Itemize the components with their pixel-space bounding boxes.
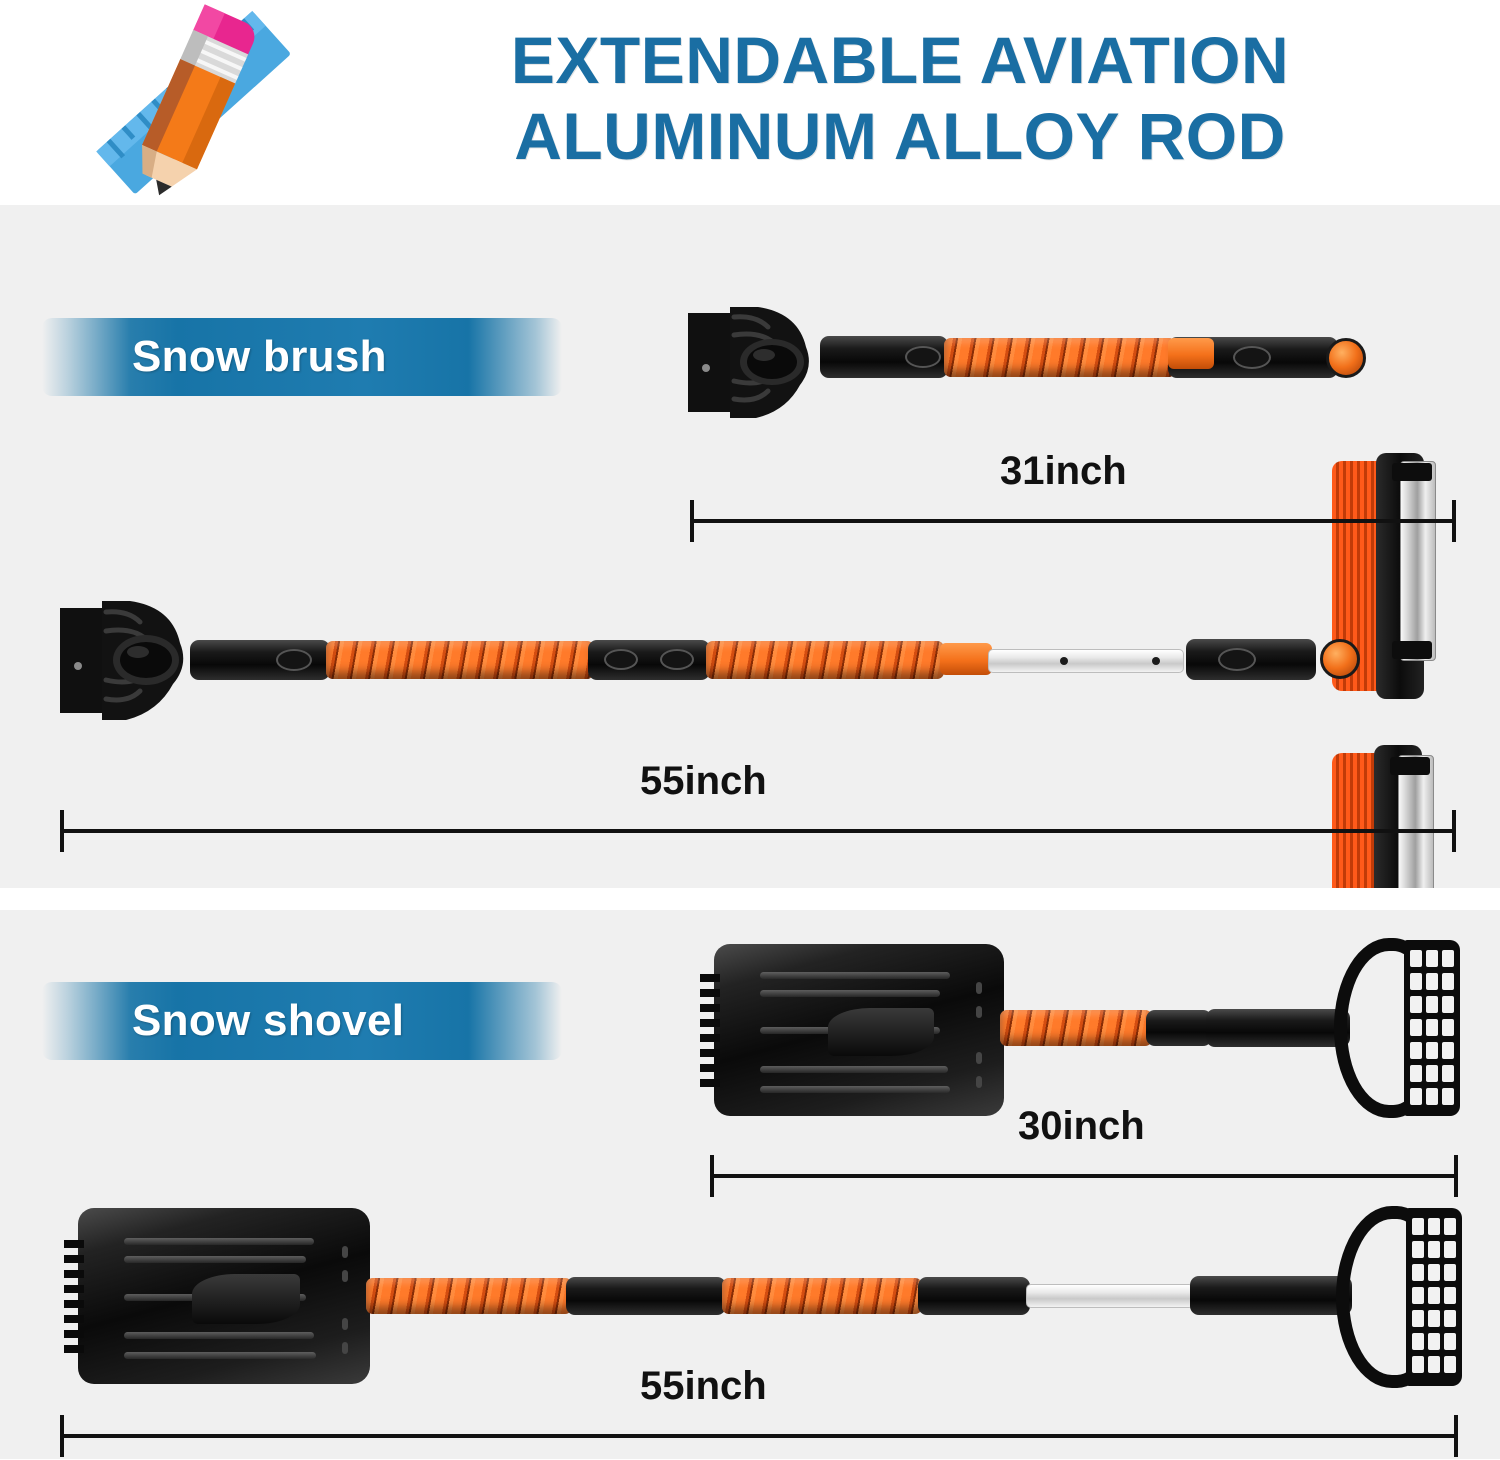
brush-grip-wrap xyxy=(944,338,1176,377)
ice-breaker-grid xyxy=(1404,940,1460,1116)
page-title: EXTENDABLE AVIATION ALUMINUM ALLOY ROD xyxy=(330,22,1470,174)
ext-release-button[interactable] xyxy=(940,643,992,675)
dimension-line xyxy=(710,1174,1458,1178)
section-label-snow-shovel: Snow shovel xyxy=(42,982,562,1060)
dimension-55inch-shovel: 55inch xyxy=(60,1410,1458,1460)
header: EXTENDABLE AVIATION ALUMINUM ALLOY ROD xyxy=(0,0,1500,205)
dimension-cap-right xyxy=(1454,1155,1458,1197)
section-snow-brush: Snow brush xyxy=(0,205,1500,888)
ext-grip-wrap-2 xyxy=(706,641,944,679)
blade-rib-2 xyxy=(760,990,940,997)
ext-blade-rib-1 xyxy=(124,1238,314,1245)
ext-shovel-grip-2 xyxy=(722,1278,922,1314)
dimension-55inch-shovel-label: 55inch xyxy=(640,1364,767,1409)
section-snow-shovel: Snow shovel xyxy=(0,910,1500,1459)
section-label-snow-brush: Snow brush xyxy=(42,318,562,396)
ext-shaft-button-1[interactable] xyxy=(276,649,312,671)
dimension-55inch-brush-label: 55inch xyxy=(640,759,767,804)
section-label-text: Snow shovel xyxy=(132,996,404,1046)
dimension-line xyxy=(60,829,1456,833)
blade-rib-4 xyxy=(760,1066,948,1073)
ext-shaft-button-2[interactable] xyxy=(604,649,638,670)
dimension-30inch: 30inch xyxy=(710,1150,1458,1200)
infographic-page: EXTENDABLE AVIATION ALUMINUM ALLOY ROD S… xyxy=(0,0,1500,1459)
brush-pivot-knob[interactable] xyxy=(1326,338,1366,378)
dimension-cap-right xyxy=(1452,810,1456,852)
section-label-text: Snow brush xyxy=(132,332,387,382)
ext-squeegee-clip-top xyxy=(1390,757,1430,775)
ext-shovel-shaft-1 xyxy=(566,1277,726,1315)
tube-hole-2 xyxy=(1152,657,1160,665)
shovel-grip-wrap xyxy=(1000,1010,1152,1046)
squeegee-clip-top xyxy=(1392,463,1432,481)
ext-grip-wrap-1 xyxy=(326,641,594,679)
dimension-line xyxy=(60,1434,1458,1438)
dimension-cap-left xyxy=(690,500,694,542)
blade-rib-1 xyxy=(760,972,950,979)
dimension-line xyxy=(690,519,1456,523)
pencil-ruler-icon xyxy=(78,2,308,202)
dimension-55inch-brush: 55inch xyxy=(60,805,1456,855)
shovel-shaft-1 xyxy=(1146,1010,1212,1046)
dimension-cap-left xyxy=(60,1415,64,1457)
shaft-button-2[interactable] xyxy=(1233,346,1271,369)
blade-center-ridge xyxy=(828,1008,934,1056)
blade-rib-5 xyxy=(760,1086,950,1093)
page-title-line1: EXTENDABLE AVIATION xyxy=(511,23,1289,97)
ext-blade-rib-5 xyxy=(124,1352,316,1359)
dimension-cap-left xyxy=(60,810,64,852)
dimension-31inch-label: 31inch xyxy=(1000,449,1127,494)
ext-shovel-grip-1 xyxy=(366,1278,572,1314)
ext-shovel-aluminum-tube xyxy=(1026,1284,1194,1308)
shovel-blade-serrated-edge xyxy=(700,974,720,1088)
ext-blade-rib-4 xyxy=(124,1332,314,1339)
brush-release-button[interactable] xyxy=(1168,338,1214,369)
dimension-cap-right xyxy=(1454,1415,1458,1457)
dimension-31inch: 31inch xyxy=(690,495,1456,545)
squeegee-clip-bottom xyxy=(1392,641,1432,659)
shaft-button-1[interactable] xyxy=(905,346,941,368)
shovel-shaft-2 xyxy=(1206,1009,1350,1047)
ext-shovel-blade-serrated-edge xyxy=(64,1240,84,1356)
squeegee-blade xyxy=(1400,461,1436,661)
ext-shovel-shaft-2 xyxy=(918,1277,1030,1315)
ext-blade-center-ridge xyxy=(192,1274,300,1324)
ext-shovel-shaft-3 xyxy=(1190,1276,1352,1315)
section-divider xyxy=(0,888,1500,910)
ext-ice-breaker-grid xyxy=(1406,1208,1462,1386)
dimension-cap-right xyxy=(1452,500,1456,542)
page-title-line2: ALUMINUM ALLOY ROD xyxy=(330,98,1470,174)
dimension-cap-left xyxy=(710,1155,714,1197)
ext-shaft-button-4[interactable] xyxy=(1218,648,1256,671)
tube-hole-1 xyxy=(1060,657,1068,665)
ext-shaft-button-3[interactable] xyxy=(660,649,694,670)
ext-blade-rib-2 xyxy=(124,1256,306,1263)
dimension-30inch-label: 30inch xyxy=(1018,1104,1145,1149)
ext-brush-pivot-knob[interactable] xyxy=(1320,639,1360,679)
